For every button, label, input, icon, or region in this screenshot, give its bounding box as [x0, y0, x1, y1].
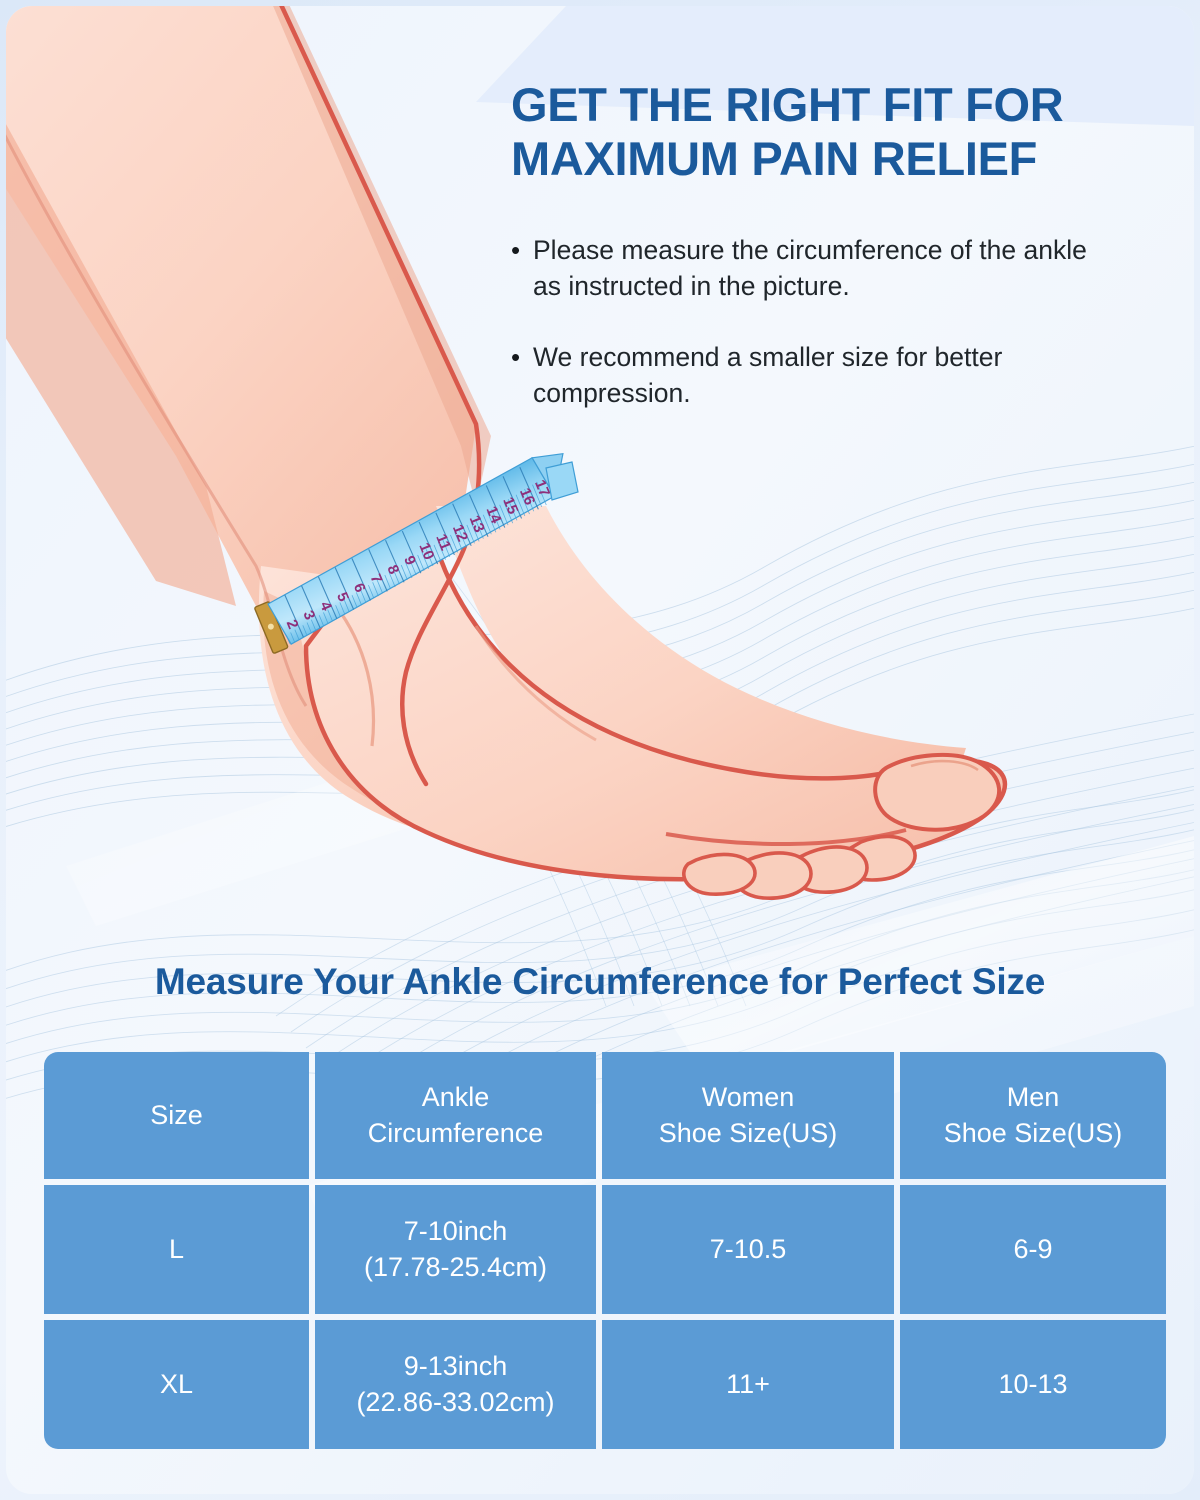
cell-ankle-circumference: 7-10inch (17.78-25.4cm): [315, 1185, 596, 1314]
instruction-list: • Please measure the circumference of th…: [511, 233, 1161, 411]
bullet-icon: •: [511, 340, 533, 375]
size-chart-table: Size Ankle Circumference Women Shoe Size…: [44, 1052, 1166, 1448]
column-header-men-shoe-size: Men Shoe Size(US): [900, 1052, 1166, 1179]
cell-women-shoe-size: 7-10.5: [602, 1185, 894, 1314]
column-header-women-shoe-size: Women Shoe Size(US): [602, 1052, 894, 1179]
cell-ankle-circumference: 9-13inch (22.86-33.02cm): [315, 1320, 596, 1449]
page-title: GET THE RIGHT FIT FOR MAXIMUM PAIN RELIE…: [511, 78, 1161, 185]
cell-size: XL: [44, 1320, 309, 1449]
list-item: • Please measure the circumference of th…: [511, 233, 1161, 304]
cell-men-shoe-size: 10-13: [900, 1320, 1166, 1449]
list-item-label: Please measure the circumference of the …: [533, 233, 1093, 304]
infographic-page: 2 3 4 5 6 7 8 9 10 11 12 13 14 15: [0, 0, 1200, 1500]
section-heading: Measure Your Ankle Circumference for Per…: [6, 961, 1194, 1003]
column-header-ankle-circumference: Ankle Circumference: [315, 1052, 596, 1179]
table-row: L 7-10inch (17.78-25.4cm) 7-10.5 6-9: [44, 1185, 1166, 1314]
content-panel: 2 3 4 5 6 7 8 9 10 11 12 13 14 15: [6, 6, 1194, 1494]
list-item: • We recommend a smaller size for better…: [511, 340, 1161, 411]
list-item-label: We recommend a smaller size for better c…: [533, 340, 1093, 411]
text-column: GET THE RIGHT FIT FOR MAXIMUM PAIN RELIE…: [511, 78, 1161, 447]
table-row: XL 9-13inch (22.86-33.02cm) 11+ 10-13: [44, 1320, 1166, 1449]
table-header-row: Size Ankle Circumference Women Shoe Size…: [44, 1052, 1166, 1179]
cell-men-shoe-size: 6-9: [900, 1185, 1166, 1314]
cell-women-shoe-size: 11+: [602, 1320, 894, 1449]
big-toe: [875, 755, 999, 830]
bullet-icon: •: [511, 233, 533, 268]
tape-behind-ankle: [546, 462, 578, 500]
cell-size: L: [44, 1185, 309, 1314]
column-header-size: Size: [44, 1052, 309, 1179]
